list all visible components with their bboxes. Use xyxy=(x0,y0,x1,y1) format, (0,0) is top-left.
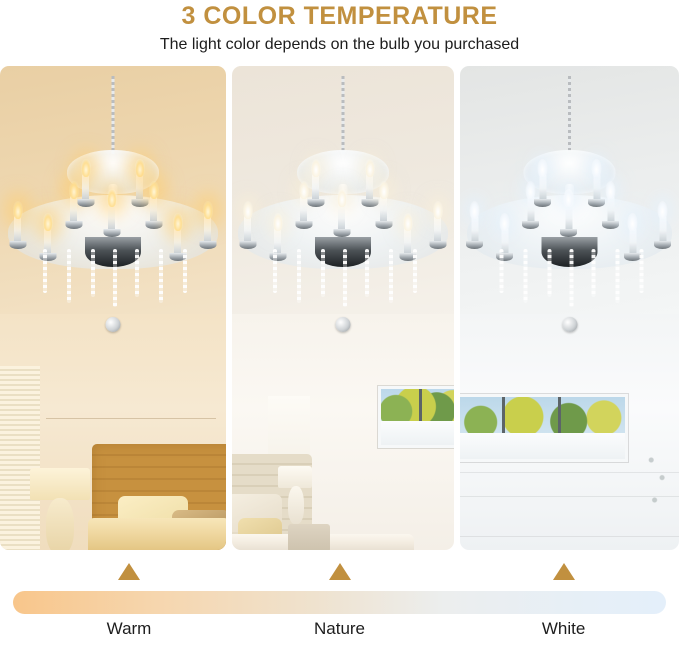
bulb-cup xyxy=(654,241,671,249)
warm-panel xyxy=(0,66,226,550)
chandelier-bulb xyxy=(108,204,115,230)
crystal-strand xyxy=(67,249,71,303)
color-temperature-panels xyxy=(0,66,679,550)
chandelier-bulb xyxy=(300,196,307,222)
chandelier-bulb xyxy=(471,216,478,242)
chandelier-bulb xyxy=(338,204,345,230)
page-subtitle: The light color depends on the bulb you … xyxy=(0,34,679,56)
crystal-strand xyxy=(135,249,139,297)
table-lamp-base xyxy=(46,498,74,550)
crystal-strand xyxy=(273,249,277,293)
bulb-cup xyxy=(333,229,350,237)
bulb-cup xyxy=(560,229,577,237)
nature-panel xyxy=(232,66,454,550)
crystal-drops xyxy=(490,249,650,309)
marker-triangle-icon-white xyxy=(553,563,575,580)
bulb-cup xyxy=(65,221,82,229)
crystal-strand xyxy=(500,249,504,293)
window-blinds xyxy=(0,366,40,550)
bulb-cup xyxy=(103,229,120,237)
white-panel xyxy=(460,66,679,550)
bulb-cup xyxy=(466,241,483,249)
window xyxy=(460,394,628,462)
chandelier-bulb xyxy=(366,174,373,200)
bulb-cup xyxy=(429,241,446,249)
bulb-cup xyxy=(77,199,94,207)
marker-triangle-icon-warm xyxy=(118,563,140,580)
crystal-strand xyxy=(113,249,117,307)
crystal-strand xyxy=(43,249,47,293)
chandelier-chain xyxy=(568,76,571,154)
crystal-strand xyxy=(183,249,187,293)
bulb-cup xyxy=(361,199,378,207)
temperature-gradient-bar xyxy=(13,591,666,614)
crystal-strand xyxy=(297,249,301,303)
ceiling-mount-icon xyxy=(562,317,577,332)
window-sill xyxy=(381,421,454,445)
chandelier-bulb xyxy=(434,216,441,242)
bulb-cup xyxy=(295,221,312,229)
chandelier-bulb xyxy=(527,196,534,222)
bulb-cup xyxy=(145,221,162,229)
chandelier-bulb xyxy=(659,216,666,242)
table-lamp-shade xyxy=(278,466,312,488)
scale-labels: Warm Nature White xyxy=(0,619,679,645)
bed xyxy=(88,518,226,550)
crystal-strand xyxy=(159,249,163,303)
crystal-strand xyxy=(616,249,620,303)
crystal-strand xyxy=(570,249,574,307)
chandelier-chain xyxy=(342,76,345,154)
bulb-cup xyxy=(534,199,551,207)
crystal-strand xyxy=(548,249,552,297)
chandelier-bulb xyxy=(565,204,572,230)
crystal-strand xyxy=(524,249,528,303)
wall-trim xyxy=(460,536,679,538)
window-foliage xyxy=(381,389,454,421)
chandelier-bulb xyxy=(14,216,21,242)
bulb-cup xyxy=(199,241,216,249)
color-temperature-scale: Warm Nature White xyxy=(0,553,679,637)
window xyxy=(378,386,454,448)
scale-markers xyxy=(0,553,679,585)
chandelier-bulb xyxy=(312,174,319,200)
bulb-cup xyxy=(588,199,605,207)
crystal-strand xyxy=(592,249,596,297)
crystal-drops xyxy=(263,249,423,309)
bulb-cup xyxy=(602,221,619,229)
crystal-strand xyxy=(365,249,369,297)
crystal-strand xyxy=(343,249,347,307)
window-foliage xyxy=(460,397,625,433)
chandelier-bulb xyxy=(150,196,157,222)
chandelier-chain xyxy=(112,76,115,154)
table-lamp-shade xyxy=(30,468,90,500)
chandelier-bulb xyxy=(244,216,251,242)
scale-label-warm: Warm xyxy=(107,619,152,639)
ceiling-mount-icon xyxy=(106,317,121,332)
chandelier xyxy=(8,76,218,311)
page-title: 3 COLOR TEMPERATURE xyxy=(0,2,679,31)
header: 3 COLOR TEMPERATURE The light color depe… xyxy=(0,0,679,56)
bulb-cup xyxy=(307,199,324,207)
crystal-strand xyxy=(389,249,393,303)
chandelier-bulb xyxy=(70,196,77,222)
nature-room-scene xyxy=(232,66,454,550)
crystal-strand xyxy=(413,249,417,293)
crystal-strand xyxy=(640,249,644,293)
bulb-cup xyxy=(375,221,392,229)
chandelier xyxy=(467,76,672,311)
bulb-cup xyxy=(522,221,539,229)
chandelier xyxy=(238,76,448,311)
ceiling-mount-icon xyxy=(336,317,351,332)
crystal-drops xyxy=(33,249,193,309)
decorative-branch xyxy=(641,444,675,524)
chandelier-bulb xyxy=(380,196,387,222)
chandelier-bulb xyxy=(593,174,600,200)
white-room-scene xyxy=(460,66,679,550)
nightstand xyxy=(288,524,330,550)
table-lamp-base xyxy=(288,486,304,524)
crystal-strand xyxy=(91,249,95,297)
chandelier-bulb xyxy=(607,196,614,222)
window-sill xyxy=(460,433,625,459)
bulb-cup xyxy=(9,241,26,249)
crystal-strand xyxy=(321,249,325,297)
marker-triangle-icon-nature xyxy=(329,563,351,580)
scale-label-white: White xyxy=(542,619,585,639)
bulb-cup xyxy=(131,199,148,207)
chandelier-bulb xyxy=(539,174,546,200)
warm-room-scene xyxy=(0,66,226,550)
chandelier-bulb xyxy=(136,174,143,200)
scale-label-nature: Nature xyxy=(314,619,365,639)
wall-moulding xyxy=(46,418,216,419)
chandelier-bulb xyxy=(82,174,89,200)
chandelier-bulb xyxy=(204,216,211,242)
bulb-cup xyxy=(239,241,256,249)
